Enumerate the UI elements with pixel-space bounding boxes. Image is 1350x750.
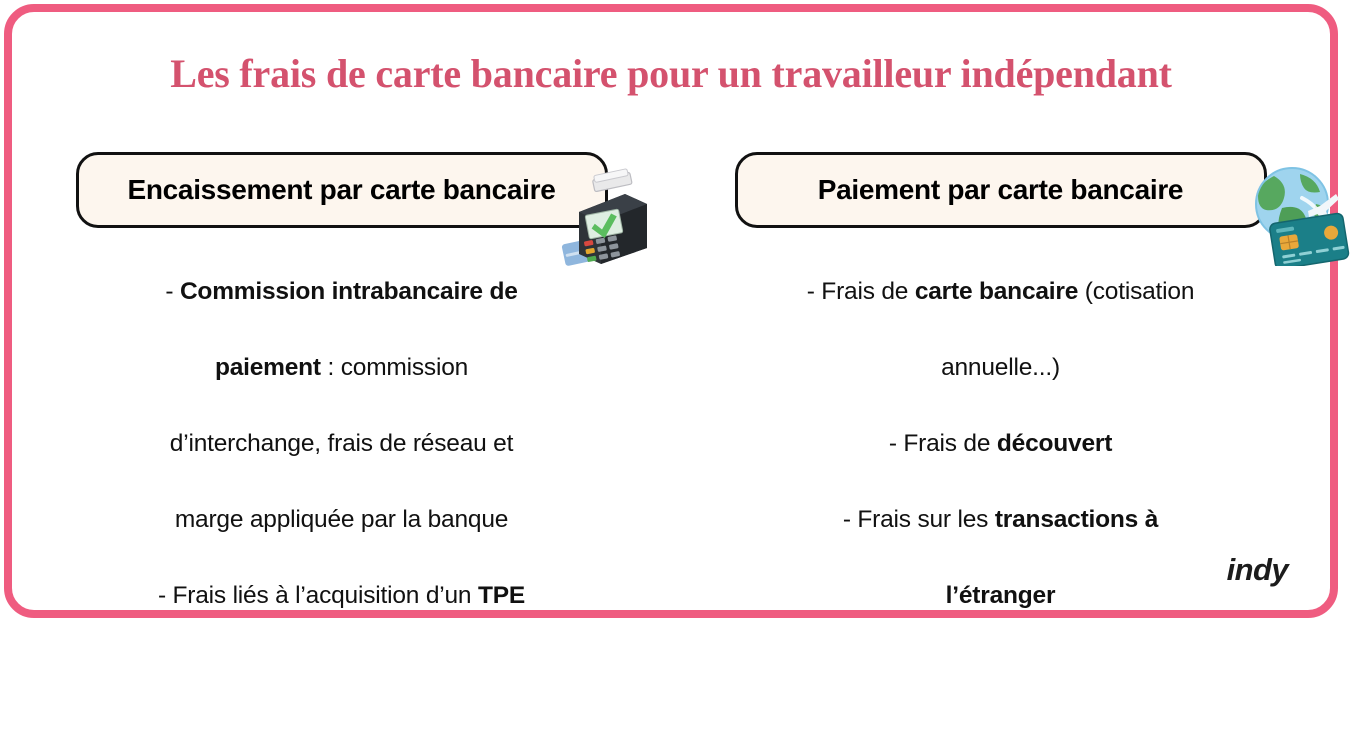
list-item: marge appliquée par la banque <box>62 482 622 558</box>
list-encaissement: - Commission intrabancaire de paiement :… <box>62 254 622 634</box>
list-item: - Commission intrabancaire de <box>62 254 622 330</box>
heading-label-paiement: Paiement par carte bancaire <box>818 174 1183 206</box>
page-title: Les frais de carte bancaire pour un trav… <box>12 50 1330 97</box>
list-item: paiement : commission <box>62 330 622 406</box>
list-item: l’étranger <box>721 558 1281 634</box>
list-item: - Frais de découvert <box>721 406 1281 482</box>
heading-pill-encaissement: Encaissement par carte bancaire <box>76 152 608 228</box>
list-item: - Frais liés à l’acquisition d’un TPE <box>62 558 622 634</box>
heading-pill-paiement: Paiement par carte bancaire <box>735 152 1267 228</box>
list-item: - Frais de carte bancaire (cotisation <box>721 254 1281 330</box>
heading-label-encaissement: Encaissement par carte bancaire <box>127 174 555 206</box>
heading-wrap-encaissement: Encaissement par carte bancaire <box>12 152 671 228</box>
indy-logo: indy <box>1227 552 1288 588</box>
columns-container: Encaissement par carte bancaire <box>12 152 1330 622</box>
list-paiement: - Frais de carte bancaire (cotisation an… <box>721 254 1281 634</box>
heading-wrap-paiement: Paiement par carte bancaire <box>671 152 1330 228</box>
infographic-stage: Les frais de carte bancaire pour un trav… <box>0 0 1350 750</box>
list-item: - Frais sur les transactions à <box>721 482 1281 558</box>
list-item: annuelle...) <box>721 330 1281 406</box>
list-item: d’interchange, frais de réseau et <box>62 406 622 482</box>
infographic-card: Les frais de carte bancaire pour un trav… <box>4 4 1338 618</box>
column-encaissement: Encaissement par carte bancaire <box>12 152 671 622</box>
